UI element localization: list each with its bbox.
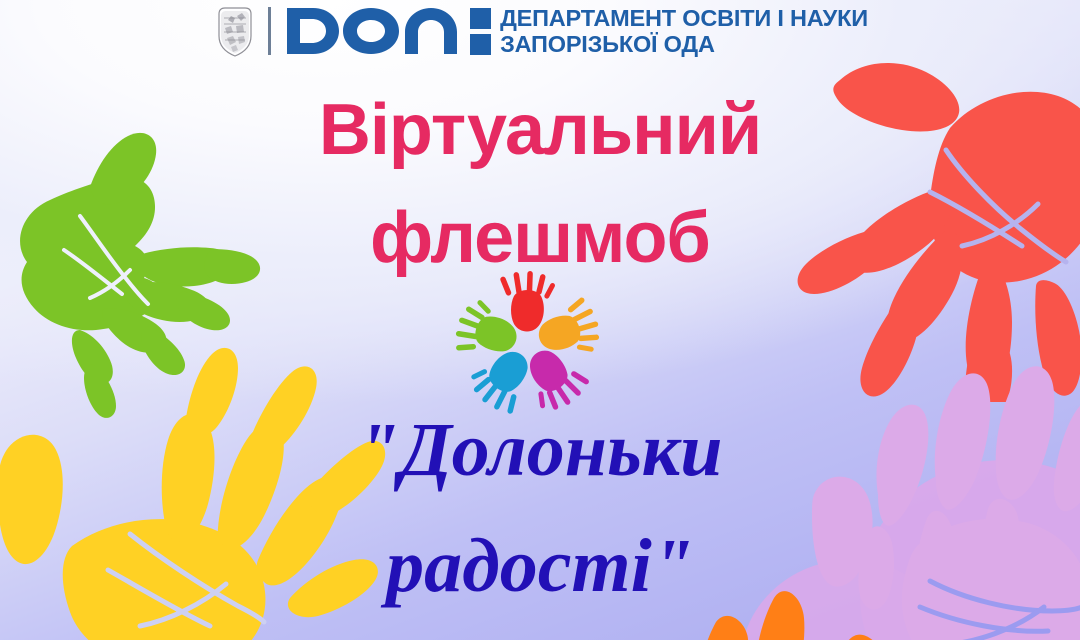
square-mark-bottom <box>470 34 491 55</box>
don-logo-mark <box>283 4 469 58</box>
department-name: ДЕПАРТАМЕНТ ОСВІТИ І НАУКИ ЗАПОРІЗЬКОЇ О… <box>500 5 868 57</box>
department-logo-bar: ДЕПАРТАМЕНТ ОСВІТИ І НАУКИ ЗАПОРІЗЬКОЇ О… <box>0 2 1080 60</box>
department-square-marks <box>470 8 491 55</box>
poster-title-line1: Віртуальний <box>0 76 1080 184</box>
zaporizhzhia-coat-of-arms-icon <box>212 2 258 60</box>
department-name-line1: ДЕПАРТАМЕНТ ОСВІТИ І НАУКИ <box>500 5 868 31</box>
department-name-line2: ЗАПОРІЗЬКОЇ ОДА <box>500 31 868 57</box>
poster-title: Віртуальний флешмоб <box>0 76 1080 292</box>
logo-divider <box>268 7 271 55</box>
poster-subtitle: "Долоньки радості" <box>0 392 1080 624</box>
poster-canvas: ДЕПАРТАМЕНТ ОСВІТИ І НАУКИ ЗАПОРІЗЬКОЇ О… <box>0 0 1080 640</box>
square-mark-top <box>470 8 491 29</box>
poster-subtitle-line1: "Долоньки <box>0 392 1080 508</box>
poster-subtitle-line2: радості" <box>0 508 1080 624</box>
